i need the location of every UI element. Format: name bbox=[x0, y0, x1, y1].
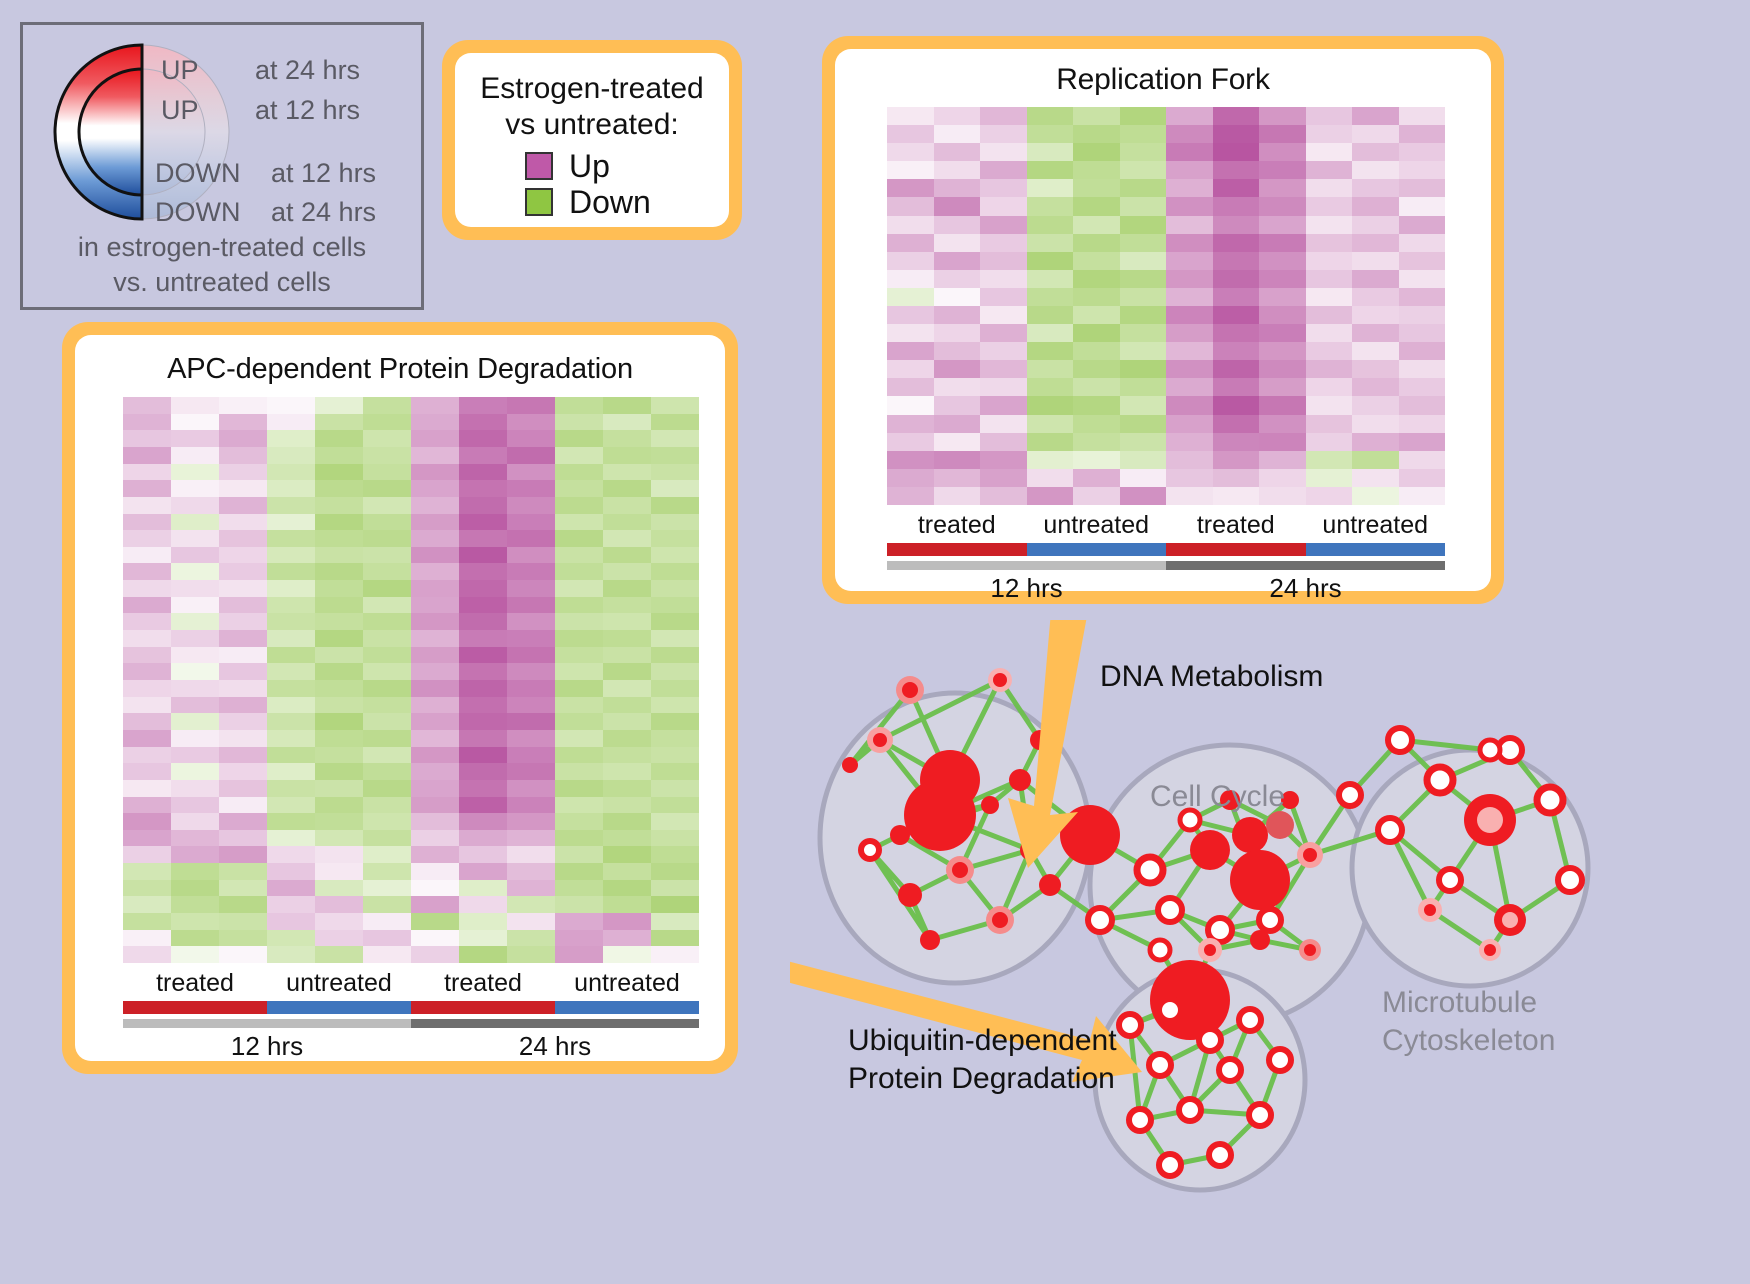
heatmap-cell bbox=[1213, 252, 1260, 270]
heatmap-cell bbox=[219, 647, 267, 664]
heatmap-cell bbox=[1027, 415, 1074, 433]
heatmap-cell bbox=[980, 324, 1027, 342]
heatmap-cell bbox=[363, 747, 411, 764]
heatmap-cell bbox=[603, 747, 651, 764]
heatmap-cell bbox=[411, 863, 459, 880]
heatmap-cell bbox=[1027, 270, 1074, 288]
heatmap-cell bbox=[980, 396, 1027, 414]
heatmap-cell bbox=[507, 830, 555, 847]
heatmap-cell bbox=[1166, 306, 1213, 324]
heatmap-cell bbox=[267, 913, 315, 930]
heatmap-cell bbox=[1399, 378, 1446, 396]
heatmap-cell bbox=[651, 913, 699, 930]
heatmap-cell bbox=[267, 763, 315, 780]
heatmap-cell bbox=[123, 397, 171, 414]
heatmap-cell bbox=[1166, 125, 1213, 143]
heatmap-cell bbox=[315, 464, 363, 481]
heatmap-cell bbox=[555, 563, 603, 580]
heatmap-cell bbox=[1306, 125, 1353, 143]
heatmap-cell bbox=[315, 563, 363, 580]
heatmap-cell bbox=[1306, 396, 1353, 414]
heatmap-cell bbox=[363, 647, 411, 664]
heatmap-cell bbox=[1213, 487, 1260, 505]
key-label-down-24: DOWN bbox=[155, 197, 240, 228]
heatmap-cell bbox=[459, 630, 507, 647]
heatmap-cell bbox=[555, 813, 603, 830]
heatmap-cell bbox=[980, 487, 1027, 505]
heatmap-cell bbox=[1120, 487, 1167, 505]
heatmap-cell bbox=[459, 780, 507, 797]
heatmap-cell bbox=[459, 730, 507, 747]
heatmap-cell bbox=[315, 530, 363, 547]
color-key-box: UP at 24 hrs UP at 12 hrs DOWN at 12 hrs… bbox=[20, 22, 424, 310]
heatmap-cell bbox=[363, 913, 411, 930]
heatmap-cell bbox=[1166, 469, 1213, 487]
heatmap-cell bbox=[507, 547, 555, 564]
heatmap-cell bbox=[934, 433, 981, 451]
heatmap-cell bbox=[1259, 288, 1306, 306]
heatmap-cell bbox=[267, 563, 315, 580]
heatmap-cell bbox=[1259, 234, 1306, 252]
heatmap-cell bbox=[315, 780, 363, 797]
heatmap-cell bbox=[887, 143, 934, 161]
heatmap-cell bbox=[363, 780, 411, 797]
heatmap-cell bbox=[555, 647, 603, 664]
heatmap-cell bbox=[363, 730, 411, 747]
heatmap-cell bbox=[1213, 143, 1260, 161]
heatmap-cell bbox=[555, 447, 603, 464]
heatmap-cell bbox=[1352, 324, 1399, 342]
heatmap-cell bbox=[1073, 469, 1120, 487]
heatmap-cell bbox=[459, 414, 507, 431]
heatmap-cell bbox=[603, 530, 651, 547]
heatmap-cell bbox=[1259, 324, 1306, 342]
cluster-label-ubiquitin-line1: Ubiquitin-dependent bbox=[848, 1022, 1117, 1060]
heatmap-cell bbox=[219, 713, 267, 730]
heatmap-cell bbox=[555, 630, 603, 647]
heatmap-cell bbox=[887, 179, 934, 197]
heatmap-cell bbox=[171, 763, 219, 780]
heatmap-cell bbox=[219, 514, 267, 531]
heatmap-cell bbox=[315, 747, 363, 764]
heatmap-cell bbox=[1073, 143, 1120, 161]
heatmap-cell bbox=[934, 197, 981, 215]
key-time-down-12: at 12 hrs bbox=[271, 158, 376, 189]
apc-time-label-12: 12 hrs bbox=[123, 1031, 411, 1062]
heatmap-cell bbox=[1306, 270, 1353, 288]
heatmap-cell bbox=[315, 547, 363, 564]
heatmap-cell bbox=[1259, 252, 1306, 270]
heatmap-cell bbox=[980, 234, 1027, 252]
cluster-label-microtubule: Microtubule Cytoskeleton bbox=[1382, 984, 1555, 1060]
heatmap-cell bbox=[1073, 179, 1120, 197]
heatmap-cell bbox=[1166, 270, 1213, 288]
heatmap-cell bbox=[1352, 216, 1399, 234]
heatmap-cell bbox=[934, 107, 981, 125]
heatmap-cell bbox=[411, 663, 459, 680]
heatmap-cell bbox=[219, 563, 267, 580]
heatmap-cell bbox=[459, 846, 507, 863]
key-time-up-24: at 24 hrs bbox=[255, 55, 360, 86]
heatmap-cell bbox=[171, 430, 219, 447]
heatmap-cell bbox=[1120, 342, 1167, 360]
apc-treatment-bar bbox=[123, 1001, 699, 1014]
heatmap-cell bbox=[219, 580, 267, 597]
heatmap-cell bbox=[934, 451, 981, 469]
cluster-label-ubiquitin: Ubiquitin-dependent Protein Degradation bbox=[848, 1022, 1117, 1098]
heatmap-cell bbox=[887, 125, 934, 143]
heatmap-cell bbox=[555, 597, 603, 614]
fork-time-seg-24 bbox=[1166, 561, 1445, 570]
heatmap-cell bbox=[315, 514, 363, 531]
apc-treatment-seg-2 bbox=[411, 1001, 555, 1014]
heatmap-cell bbox=[555, 547, 603, 564]
heatmap-cell bbox=[315, 597, 363, 614]
heatmap-cell bbox=[267, 414, 315, 431]
heatmap-cell bbox=[934, 270, 981, 288]
heatmap-cell bbox=[887, 342, 934, 360]
heatmap-cell bbox=[1352, 360, 1399, 378]
heatmap-cell bbox=[1073, 487, 1120, 505]
heatmap-cell bbox=[267, 514, 315, 531]
apc-treatment-seg-1 bbox=[267, 1001, 411, 1014]
heatmap-cell bbox=[1213, 415, 1260, 433]
heatmap-cell bbox=[171, 863, 219, 880]
heatmap-cell bbox=[1306, 197, 1353, 215]
heatmap-cell bbox=[651, 780, 699, 797]
heatmap-cell bbox=[1213, 378, 1260, 396]
heatmap-cell bbox=[603, 863, 651, 880]
heatmap-cell bbox=[1120, 288, 1167, 306]
heatmap-cell bbox=[651, 946, 699, 963]
heatmap-cell bbox=[1352, 125, 1399, 143]
heatmap-cell bbox=[603, 830, 651, 847]
heatmap-cell bbox=[315, 863, 363, 880]
heatmap-cell bbox=[603, 913, 651, 930]
heatmap-cell bbox=[171, 780, 219, 797]
heatmap-cell bbox=[123, 414, 171, 431]
heatmap-cell bbox=[980, 125, 1027, 143]
replication-fork-heatmap bbox=[887, 107, 1445, 505]
heatmap-cell bbox=[1120, 143, 1167, 161]
heatmap-cell bbox=[1166, 324, 1213, 342]
heatmap-cell bbox=[123, 497, 171, 514]
heatmap-cell bbox=[267, 813, 315, 830]
heatmap-cell bbox=[603, 813, 651, 830]
heatmap-cell bbox=[651, 647, 699, 664]
heatmap-cell bbox=[363, 630, 411, 647]
heatmap-cell bbox=[123, 514, 171, 531]
heatmap-cell bbox=[363, 414, 411, 431]
heatmap-cell bbox=[1166, 487, 1213, 505]
heatmap-cell bbox=[1073, 197, 1120, 215]
heatmap-cell bbox=[1073, 342, 1120, 360]
heatmap-cell bbox=[459, 930, 507, 947]
heatmap-cell bbox=[651, 547, 699, 564]
heatmap-cell bbox=[363, 597, 411, 614]
apc-sample-label-1: untreated bbox=[267, 969, 411, 998]
heatmap-cell bbox=[219, 913, 267, 930]
heatmap-cell bbox=[459, 480, 507, 497]
heatmap-cell bbox=[411, 647, 459, 664]
heatmap-cell bbox=[1166, 197, 1213, 215]
heatmap-cell bbox=[651, 830, 699, 847]
heatmap-cell bbox=[411, 896, 459, 913]
key-footer-line1: in estrogen-treated cells bbox=[23, 230, 421, 265]
heatmap-cell bbox=[315, 896, 363, 913]
heatmap-cell bbox=[1259, 415, 1306, 433]
heatmap-cell bbox=[1213, 342, 1260, 360]
heatmap-cell bbox=[123, 946, 171, 963]
heatmap-cell bbox=[1073, 288, 1120, 306]
heatmap-cell bbox=[411, 930, 459, 947]
heatmap-cell bbox=[171, 896, 219, 913]
heatmap-cell bbox=[934, 396, 981, 414]
heatmap-cell bbox=[1166, 216, 1213, 234]
heatmap-cell bbox=[123, 930, 171, 947]
key-time-down-24: at 24 hrs bbox=[271, 197, 376, 228]
heatmap-cell bbox=[171, 613, 219, 630]
heatmap-cell bbox=[1399, 234, 1446, 252]
heatmap-cell bbox=[555, 430, 603, 447]
heatmap-cell bbox=[887, 306, 934, 324]
heatmap-cell bbox=[1399, 216, 1446, 234]
legend-title: Estrogen-treated vs untreated: bbox=[469, 71, 715, 143]
heatmap-cell bbox=[1166, 288, 1213, 306]
heatmap-cell bbox=[651, 747, 699, 764]
heatmap-cell bbox=[315, 414, 363, 431]
heatmap-cell bbox=[267, 896, 315, 913]
heatmap-cell bbox=[1120, 396, 1167, 414]
heatmap-cell bbox=[555, 930, 603, 947]
heatmap-cell bbox=[171, 647, 219, 664]
heatmap-cell bbox=[267, 880, 315, 897]
heatmap-cell bbox=[171, 447, 219, 464]
heatmap-cell bbox=[1073, 161, 1120, 179]
heatmap-cell bbox=[123, 530, 171, 547]
legend-item-down: Down bbox=[525, 185, 715, 219]
legend-inner: Estrogen-treated vs untreated: Up Down bbox=[455, 53, 729, 227]
heatmap-cell bbox=[219, 697, 267, 714]
heatmap-cell bbox=[123, 896, 171, 913]
heatmap-cell bbox=[267, 713, 315, 730]
heatmap-cell bbox=[1259, 396, 1306, 414]
heatmap-cell bbox=[555, 713, 603, 730]
heatmap-cell bbox=[219, 747, 267, 764]
heatmap-cell bbox=[1120, 179, 1167, 197]
heatmap-cell bbox=[980, 433, 1027, 451]
heatmap-cell bbox=[887, 324, 934, 342]
heatmap-cell bbox=[1073, 396, 1120, 414]
apc-time-seg-24 bbox=[411, 1019, 699, 1028]
heatmap-cell bbox=[980, 306, 1027, 324]
heatmap-cell bbox=[363, 430, 411, 447]
heatmap-cell bbox=[123, 663, 171, 680]
heatmap-cell bbox=[507, 530, 555, 547]
heatmap-cell bbox=[315, 880, 363, 897]
heatmap-cell bbox=[603, 946, 651, 963]
heatmap-cell bbox=[171, 530, 219, 547]
heatmap-cell bbox=[123, 680, 171, 697]
heatmap-cell bbox=[171, 880, 219, 897]
heatmap-cell bbox=[1213, 125, 1260, 143]
heatmap-cell bbox=[123, 797, 171, 814]
fork-sample-label-3: untreated bbox=[1306, 511, 1446, 540]
heatmap-cell bbox=[1259, 107, 1306, 125]
heatmap-cell bbox=[555, 946, 603, 963]
heatmap-cell bbox=[363, 697, 411, 714]
heatmap-cell bbox=[1306, 107, 1353, 125]
heatmap-cell bbox=[219, 530, 267, 547]
heatmap-cell bbox=[315, 713, 363, 730]
heatmap-cell bbox=[267, 480, 315, 497]
heatmap-cell bbox=[363, 447, 411, 464]
heatmap-cell bbox=[267, 397, 315, 414]
heatmap-cell bbox=[980, 288, 1027, 306]
heatmap-cell bbox=[1120, 161, 1167, 179]
heatmap-cell bbox=[315, 397, 363, 414]
heatmap-cell bbox=[123, 430, 171, 447]
heatmap-cell bbox=[171, 730, 219, 747]
apc-sample-label-2: treated bbox=[411, 969, 555, 998]
heatmap-cell bbox=[507, 430, 555, 447]
heatmap-cell bbox=[267, 613, 315, 630]
heatmap-cell bbox=[123, 747, 171, 764]
heatmap-cell bbox=[887, 451, 934, 469]
heatmap-cell bbox=[267, 846, 315, 863]
cluster-label-microtubule-line2: Cytoskeleton bbox=[1382, 1022, 1555, 1060]
heatmap-cell bbox=[1259, 487, 1306, 505]
pathway-network-diagram: DNA Metabolism Cell Cycle Microtubule Cy… bbox=[790, 620, 1750, 1279]
heatmap-cell bbox=[171, 797, 219, 814]
heatmap-cell bbox=[363, 846, 411, 863]
fork-sample-labels: treated untreated treated untreated bbox=[887, 511, 1445, 540]
heatmap-cell bbox=[1399, 306, 1446, 324]
heatmap-cell bbox=[555, 613, 603, 630]
heatmap-cell bbox=[123, 830, 171, 847]
heatmap-cell bbox=[507, 913, 555, 930]
heatmap-cell bbox=[267, 830, 315, 847]
heatmap-cell bbox=[603, 397, 651, 414]
heatmap-cell bbox=[171, 414, 219, 431]
heatmap-cell bbox=[1306, 252, 1353, 270]
heatmap-cell bbox=[934, 415, 981, 433]
heatmap-cell bbox=[980, 197, 1027, 215]
replication-fork-panel: Replication Fork treated untreated treat… bbox=[822, 36, 1504, 604]
heatmap-cell bbox=[1399, 342, 1446, 360]
heatmap-cell bbox=[1352, 433, 1399, 451]
heatmap-cell bbox=[459, 397, 507, 414]
heatmap-cell bbox=[1399, 396, 1446, 414]
heatmap-cell bbox=[1306, 234, 1353, 252]
heatmap-cell bbox=[1073, 306, 1120, 324]
heatmap-cell bbox=[934, 234, 981, 252]
heatmap-cell bbox=[1352, 306, 1399, 324]
heatmap-cell bbox=[1027, 469, 1074, 487]
apc-sample-label-0: treated bbox=[123, 969, 267, 998]
heatmap-cell bbox=[459, 680, 507, 697]
heatmap-cell bbox=[171, 663, 219, 680]
heatmap-cell bbox=[1352, 288, 1399, 306]
heatmap-cell bbox=[651, 464, 699, 481]
heatmap-cell bbox=[651, 414, 699, 431]
heatmap-cell bbox=[603, 447, 651, 464]
heatmap-cell bbox=[1399, 270, 1446, 288]
heatmap-cell bbox=[603, 896, 651, 913]
legend-title-line2: vs untreated: bbox=[469, 107, 715, 143]
heatmap-cell bbox=[980, 342, 1027, 360]
heatmap-cell bbox=[887, 234, 934, 252]
heatmap-cell bbox=[411, 563, 459, 580]
heatmap-cell bbox=[1073, 433, 1120, 451]
heatmap-cell bbox=[1352, 179, 1399, 197]
heatmap-cell bbox=[1306, 216, 1353, 234]
heatmap-cell bbox=[555, 797, 603, 814]
heatmap-cell bbox=[603, 480, 651, 497]
heatmap-cell bbox=[1120, 306, 1167, 324]
heatmap-cell bbox=[1166, 252, 1213, 270]
heatmap-cell bbox=[123, 730, 171, 747]
heatmap-cell bbox=[507, 563, 555, 580]
heatmap-cell bbox=[1259, 270, 1306, 288]
heatmap-cell bbox=[1213, 433, 1260, 451]
replication-fork-title: Replication Fork bbox=[835, 49, 1491, 97]
heatmap-cell bbox=[887, 433, 934, 451]
heatmap-cell bbox=[1120, 433, 1167, 451]
heatmap-cell bbox=[1306, 469, 1353, 487]
heatmap-cell bbox=[411, 680, 459, 697]
heatmap-cell bbox=[980, 179, 1027, 197]
heatmap-cell bbox=[887, 396, 934, 414]
heatmap-cell bbox=[603, 780, 651, 797]
heatmap-cell bbox=[1213, 396, 1260, 414]
heatmap-cell bbox=[507, 680, 555, 697]
heatmap-cell bbox=[980, 252, 1027, 270]
heatmap-cell bbox=[1166, 107, 1213, 125]
heatmap-cell bbox=[651, 497, 699, 514]
key-label-down-12: DOWN bbox=[155, 158, 240, 189]
heatmap-cell bbox=[1352, 252, 1399, 270]
heatmap-cell bbox=[603, 763, 651, 780]
heatmap-cell bbox=[267, 647, 315, 664]
heatmap-cell bbox=[459, 747, 507, 764]
heatmap-cell bbox=[651, 663, 699, 680]
key-time-up-12: at 12 hrs bbox=[255, 95, 360, 126]
heatmap-cell bbox=[363, 863, 411, 880]
heatmap-cell bbox=[1399, 107, 1446, 125]
heatmap-cell bbox=[315, 846, 363, 863]
heatmap-cell bbox=[651, 797, 699, 814]
heatmap-cell bbox=[123, 713, 171, 730]
heatmap-cell bbox=[934, 469, 981, 487]
heatmap-cell bbox=[1027, 306, 1074, 324]
heatmap-cell bbox=[171, 464, 219, 481]
heatmap-cell bbox=[459, 580, 507, 597]
heatmap-cell bbox=[934, 288, 981, 306]
heatmap-cell bbox=[219, 880, 267, 897]
heatmap-cell bbox=[1306, 487, 1353, 505]
down-swatch-icon bbox=[525, 188, 553, 216]
heatmap-cell bbox=[171, 514, 219, 531]
heatmap-cell bbox=[507, 930, 555, 947]
heatmap-cell bbox=[1259, 469, 1306, 487]
heatmap-cell bbox=[1166, 433, 1213, 451]
heatmap-cell bbox=[219, 946, 267, 963]
heatmap-cell bbox=[934, 252, 981, 270]
heatmap-cell bbox=[123, 697, 171, 714]
heatmap-cell bbox=[1073, 216, 1120, 234]
heatmap-cell bbox=[1213, 469, 1260, 487]
